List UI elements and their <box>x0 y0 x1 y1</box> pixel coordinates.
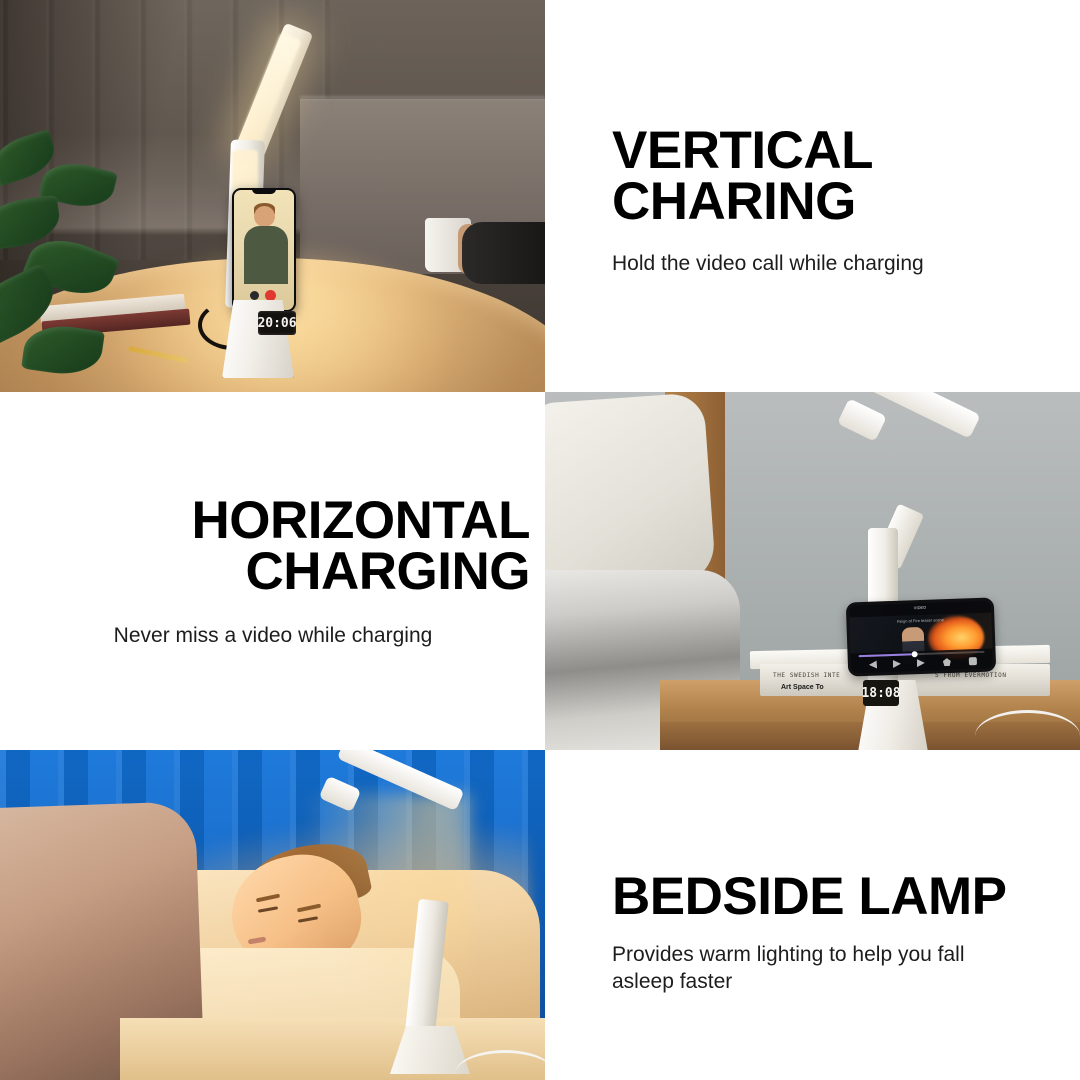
video-title-text: VIDEO <box>914 605 927 610</box>
arm-sleeve <box>462 222 545 284</box>
end-call-icon <box>265 290 276 301</box>
headline-line-1: HORIZONTAL <box>30 496 530 547</box>
headline-bedside-lamp: BEDSIDE LAMP <box>612 872 1052 923</box>
desk-scene-photo: 20:06 <box>0 0 545 392</box>
feature-grid-sheet: 20:06 VERTICAL CHARING Hold the video ca… <box>0 0 1080 1080</box>
subtitle-vertical-charging: Hold the video call while charging <box>612 250 1052 277</box>
headline-line-2: CHARING <box>612 177 1052 228</box>
headline-horizontal-charging: HORIZONTAL CHARGING <box>30 496 530 598</box>
subtitle-line-1: Never miss a video while charging <box>30 622 516 649</box>
book-spine-left-text: THE SWEDISH INTE <box>773 672 840 679</box>
foreground-plant <box>0 130 170 392</box>
lamp-clock-display: 18:08 <box>863 680 899 706</box>
clock-digits: 18:08 <box>861 687 900 700</box>
feature-text-bedside-lamp: BEDSIDE LAMP Provides warm lighting to h… <box>612 872 1052 995</box>
caller-torso <box>244 226 288 284</box>
subtitle-horizontal-charging: Never miss a video while charging <box>30 622 530 649</box>
bed-pillow <box>545 392 716 594</box>
headline-line-1: BEDSIDE LAMP <box>612 872 1052 923</box>
phone-notch <box>252 188 276 194</box>
subtitle-line-1: Provides warm lighting to help you fall <box>612 941 1052 968</box>
phone-screen <box>234 190 294 310</box>
feature-text-horizontal-charging: HORIZONTAL CHARGING Never miss a video w… <box>30 496 530 649</box>
phone-landscape: VIDEO Reign of Fire teaser scene <box>846 597 996 676</box>
mute-button-icon <box>250 291 259 300</box>
lamp-clock-display: 20:06 <box>258 311 296 335</box>
feature-text-vertical-charging: VERTICAL CHARING Hold the video call whi… <box>612 126 1052 277</box>
child-sleeping-photo <box>0 750 545 1080</box>
headline-line-1: VERTICAL <box>612 126 1052 177</box>
subtitle-line-2: asleep faster <box>612 968 1052 995</box>
wall-trim-line <box>300 96 545 99</box>
subtitle-line-1: Hold the video call while charging <box>612 250 1052 277</box>
phone-screen: VIDEO Reign of Fire teaser scene <box>849 601 993 674</box>
bedroom-nightstand-photo: THE SWEDISH INTE S FROM EVERMOTION Art S… <box>545 392 1080 750</box>
headline-line-2: CHARGING <box>30 547 530 598</box>
clock-digits: 20:06 <box>257 317 296 330</box>
book-spine-lower-text: Art Space To <box>781 684 824 691</box>
caller-face <box>254 206 275 227</box>
plant-leaf <box>21 321 105 379</box>
subtitle-bedside-lamp: Provides warm lighting to help you fall … <box>612 941 1052 996</box>
fullscreen-icon <box>969 657 977 665</box>
headline-vertical-charging: VERTICAL CHARING <box>612 126 1052 228</box>
phone-vertical <box>232 188 296 312</box>
